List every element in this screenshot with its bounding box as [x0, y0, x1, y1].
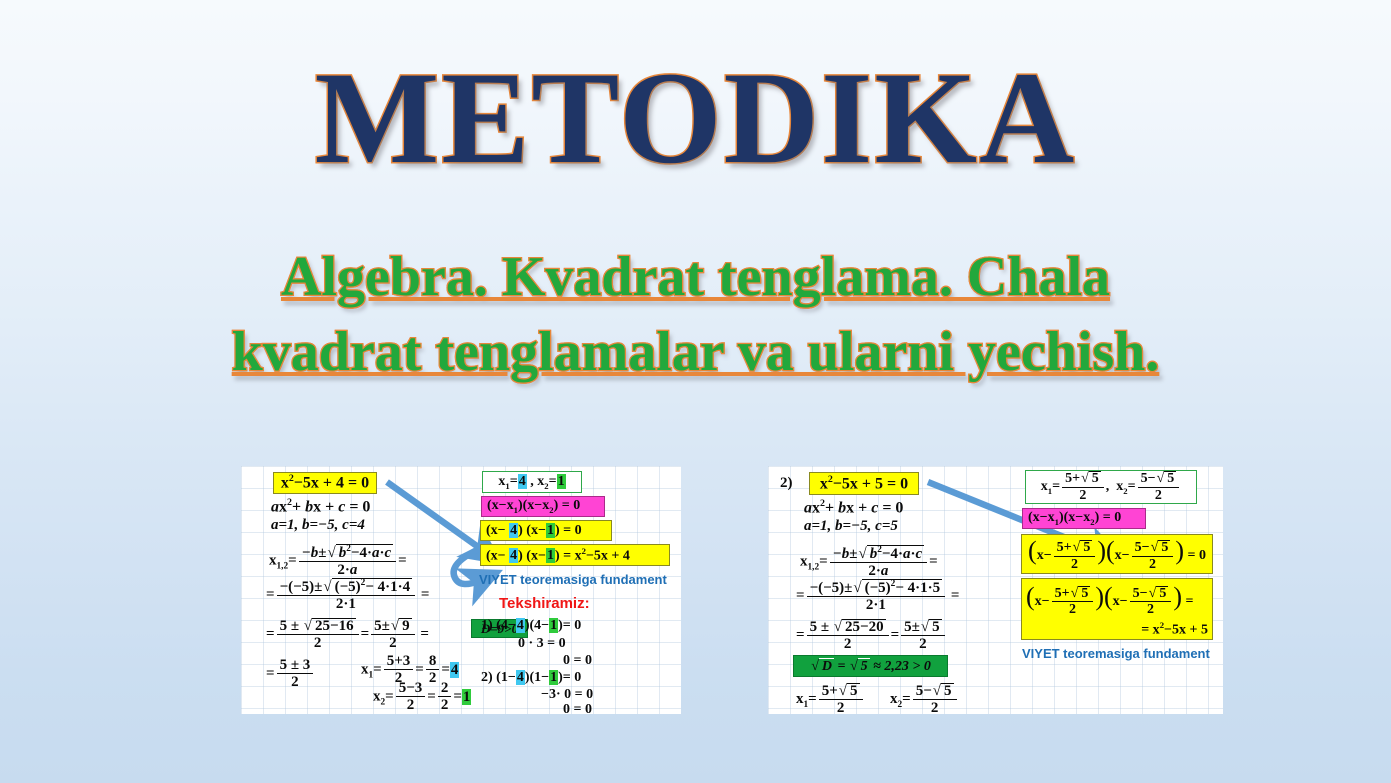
simplify-step-2: =5 ± 32: [266, 658, 315, 691]
roots-box-2-text: x1=5+√52, x2=5−√52: [1041, 471, 1182, 503]
vieta-expanded-2-tail: = x2−5x + 5: [1026, 620, 1208, 639]
discriminant-badge-2-text: √D = √5 ≈ 2,23 > 0: [810, 658, 931, 675]
general-form-2: ax2+ bx + c = 0: [804, 498, 903, 517]
substituted-formula-2: =−(−5)±√(−5)2− 4·1·52·1 =: [796, 579, 959, 614]
vieta-generic-1-text: (x−x1)(x−x2) = 0: [487, 498, 580, 515]
equation-box-2: x2−5x + 5 = 0: [809, 472, 919, 495]
page-subtitle-line-2: kvadrat tenglamalar va ularni yechish.: [0, 315, 1391, 390]
vieta-generic-box-2: (x−x1)(x−x2) = 0: [1022, 508, 1146, 529]
page-title: METODIKA: [315, 52, 1077, 184]
vieta-filled-box-2: (x−5+√52)(x−5−√52) = 0: [1021, 534, 1213, 574]
vieta-filled-1-text: (x− 4) (x−1) = 0: [486, 523, 582, 539]
quadratic-formula-2: x1,2=−b±√b2−4·a·c2·a=: [800, 545, 938, 580]
root-2-2-line: x2=5−√52: [890, 683, 959, 714]
substituted-formula-1: =−(−5)±√(−5)2− 4·1·42·1 =: [266, 578, 429, 613]
equation-box-1: x2−5x + 4 = 0: [273, 472, 377, 494]
example-number-2: 2): [780, 475, 793, 492]
check-line-4: 2) (1−4)(1−1)= 0: [481, 670, 581, 686]
vieta-filled-box-1: (x− 4) (x−1) = 0: [480, 520, 612, 541]
equation-2-text: x2−5x + 5 = 0: [820, 474, 908, 493]
vieta-expanded-1-text: (x− 4) (x−1) = x2−5x + 4: [486, 546, 630, 565]
simplify-step-1: =5 ± √25−162=5±√92 =: [266, 618, 429, 652]
check-line-5: −3· 0 = 0: [541, 687, 593, 703]
vieta-generic-box-1: (x−x1)(x−x2) = 0: [481, 496, 605, 517]
discriminant-badge-2: √D = √5 ≈ 2,23 > 0: [793, 655, 948, 677]
coefficients-1: a=1, b=−5, c=4: [271, 517, 365, 534]
general-form-1: ax2+ bx + c = 0: [271, 497, 370, 516]
equation-1-text: x2−5x + 4 = 0: [281, 473, 369, 492]
vieta-note-2: VIYET teoremasiga fundament: [1022, 646, 1210, 661]
vieta-note-1: VIYET teoremasiga fundament: [479, 572, 667, 587]
check-title-1: Tekshiramiz:: [499, 595, 590, 612]
vieta-generic-2-text: (x−x1)(x−x2) = 0: [1028, 510, 1121, 527]
simplify-step-2-1: =5 ± √25−202=5±√52: [796, 619, 947, 653]
roots-box-1-text: x1=4 , x2=1: [498, 474, 565, 491]
roots-box-1: x1=4 , x2=1: [482, 471, 582, 493]
page-subtitle-block: Algebra. Kvadrat tenglama. Chala kvadrat…: [0, 240, 1391, 390]
root-2-1-line: x1=5+√52: [796, 683, 865, 714]
page-title-block: METODIKA: [0, 52, 1391, 184]
quadratic-formula-1: x1,2=−b±√b2−4·a·c2·a=: [269, 544, 407, 579]
worked-example-panel-1: x2−5x + 4 = 0 ax2+ bx + c = 0 a=1, b=−5,…: [241, 466, 681, 714]
vieta-expanded-box-2: (x−5+√52)(x−5−√52) = = x2−5x + 5: [1021, 578, 1213, 640]
check-line-2: 0 · 3 = 0: [518, 636, 566, 652]
root-2-line: x2=5−32=22=1: [373, 681, 471, 714]
vieta-expanded-box-1: (x− 4) (x−1) = x2−5x + 4: [480, 544, 670, 566]
vieta-expanded-2-text: (x−5+√52)(x−5−√52) =: [1026, 594, 1193, 609]
coefficients-2: a=1, b=−5, c=5: [804, 518, 898, 535]
check-line-3: 0 = 0: [563, 653, 592, 669]
check-line-6: 0 = 0: [563, 702, 592, 714]
vieta-filled-2-text: (x−5+√52)(x−5−√52) = 0: [1028, 536, 1206, 572]
roots-box-2: x1=5+√52, x2=5−√52: [1025, 470, 1197, 504]
check-line-1: 1) (4−4)(4−1)= 0: [481, 618, 581, 634]
worked-example-panel-2: 2) x2−5x + 5 = 0 ax2+ bx + c = 0 a=1, b=…: [768, 466, 1223, 714]
page-subtitle-line-1: Algebra. Kvadrat tenglama. Chala: [0, 240, 1391, 315]
